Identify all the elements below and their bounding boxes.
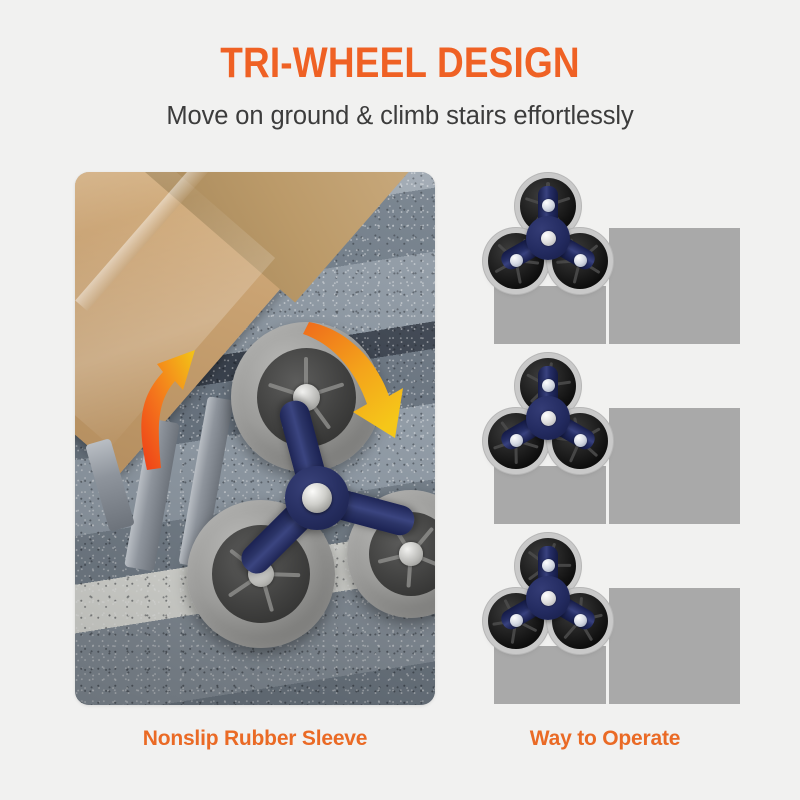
navy-tri-hub (488, 358, 608, 478)
operation-steps-column (470, 172, 740, 705)
left-panel-caption: Nonslip Rubber Sleeve (75, 727, 435, 751)
product-photo-card (75, 172, 435, 705)
page-subtitle: Move on ground & climb stairs effortless… (0, 85, 800, 131)
navy-tri-hub (488, 538, 608, 658)
upper-step-block (609, 228, 740, 344)
wheel-axle-bolt (574, 434, 587, 447)
hub-center-bolt (302, 483, 332, 513)
step-diagram-1 (470, 172, 740, 344)
wheel-axle-bolt (574, 254, 587, 267)
wheel-axle-bolt (510, 254, 523, 267)
wheel-axle-bolt (542, 559, 555, 572)
navy-tri-hub (488, 178, 608, 298)
hub-center-bolt (541, 231, 556, 246)
tri-wheel-icon (488, 358, 608, 478)
tri-wheel-icon (488, 538, 608, 658)
wheel-axle-bolt (574, 614, 587, 627)
upper-step-block (609, 408, 740, 524)
wheel-axle-bolt (542, 379, 555, 392)
wheel-axle-bolt (510, 434, 523, 447)
infographic-page: TRI-WHEEL DESIGN Move on ground & climb … (0, 0, 800, 800)
tri-wheel-icon (488, 178, 608, 298)
header: TRI-WHEEL DESIGN Move on ground & climb … (0, 0, 800, 131)
product-photo (75, 172, 435, 705)
roll-direction-arrow (303, 322, 423, 462)
hub-center-bolt (541, 411, 556, 426)
right-panel-caption: Way to Operate (470, 727, 740, 751)
lift-direction-arrow (117, 320, 207, 470)
hub-center-bolt (541, 591, 556, 606)
upper-step-block (609, 588, 740, 704)
step-diagram-2 (470, 352, 740, 524)
wheel-axle-bolt (542, 199, 555, 212)
step-diagram-3 (470, 532, 740, 704)
page-title: TRI-WHEEL DESIGN (56, 0, 744, 85)
wheel-axle-bolt (510, 614, 523, 627)
